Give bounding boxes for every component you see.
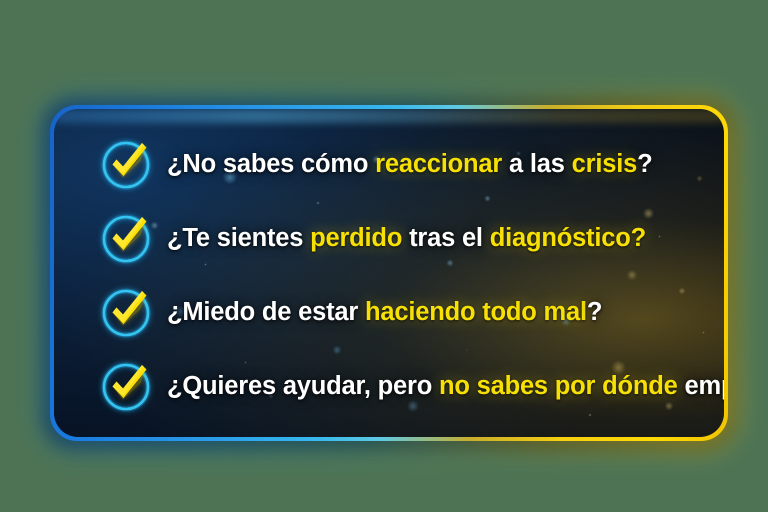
check-circle-icon bbox=[99, 136, 155, 192]
slide-canvas: ¿No sabes cómo reaccionar a las crisis? bbox=[0, 0, 768, 512]
checklist-rows: ¿No sabes cómo reaccionar a las crisis? bbox=[54, 109, 724, 437]
checklist-card: ¿No sabes cómo reaccionar a las crisis? bbox=[50, 105, 728, 441]
check-circle-icon bbox=[99, 284, 155, 340]
checklist-item-text: ¿Quieres ayudar, pero no sabes por dónde… bbox=[167, 372, 724, 400]
card-interior: ¿No sabes cómo reaccionar a las crisis? bbox=[54, 109, 724, 437]
checklist-item: ¿No sabes cómo reaccionar a las crisis? bbox=[54, 133, 724, 195]
checklist-item-text: ¿Miedo de estar haciendo todo mal? bbox=[167, 298, 602, 326]
checklist-item-text: ¿No sabes cómo reaccionar a las crisis? bbox=[167, 150, 652, 178]
check-circle-icon bbox=[99, 358, 155, 414]
checklist-item-text: ¿Te sientes perdido tras el diagnóstico? bbox=[167, 224, 646, 252]
checklist-item: ¿Te sientes perdido tras el diagnóstico? bbox=[54, 207, 724, 269]
check-circle-icon bbox=[99, 210, 155, 266]
checklist-item: ¿Quieres ayudar, pero no sabes por dónde… bbox=[54, 355, 724, 417]
checklist-item: ¿Miedo de estar haciendo todo mal? bbox=[54, 281, 724, 343]
